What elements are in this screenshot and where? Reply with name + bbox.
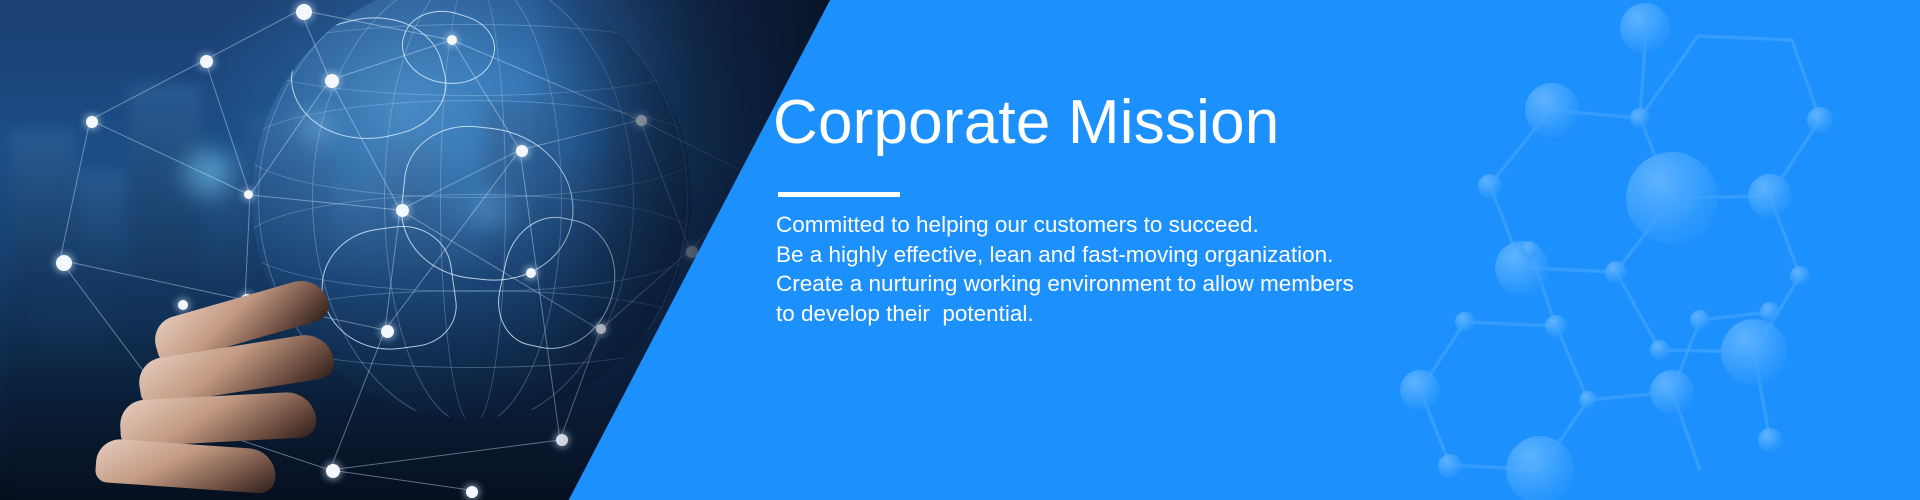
title-divider-rule	[778, 192, 900, 197]
mission-statement-list: Committed to helping our customers to su…	[776, 210, 1354, 328]
corporate-mission-banner: Corporate Mission Committed to helping o…	[0, 0, 1920, 500]
mission-text-block: Corporate Mission Committed to helping o…	[773, 0, 1473, 500]
mission-line: Committed to helping our customers to su…	[776, 210, 1354, 240]
mission-line: to develop their potential.	[776, 299, 1354, 329]
mission-line: Be a highly effective, lean and fast-mov…	[776, 240, 1354, 270]
hand-reaching	[0, 290, 400, 500]
mission-line: Create a nurturing working environment t…	[776, 269, 1354, 299]
page-title: Corporate Mission	[773, 92, 1279, 154]
